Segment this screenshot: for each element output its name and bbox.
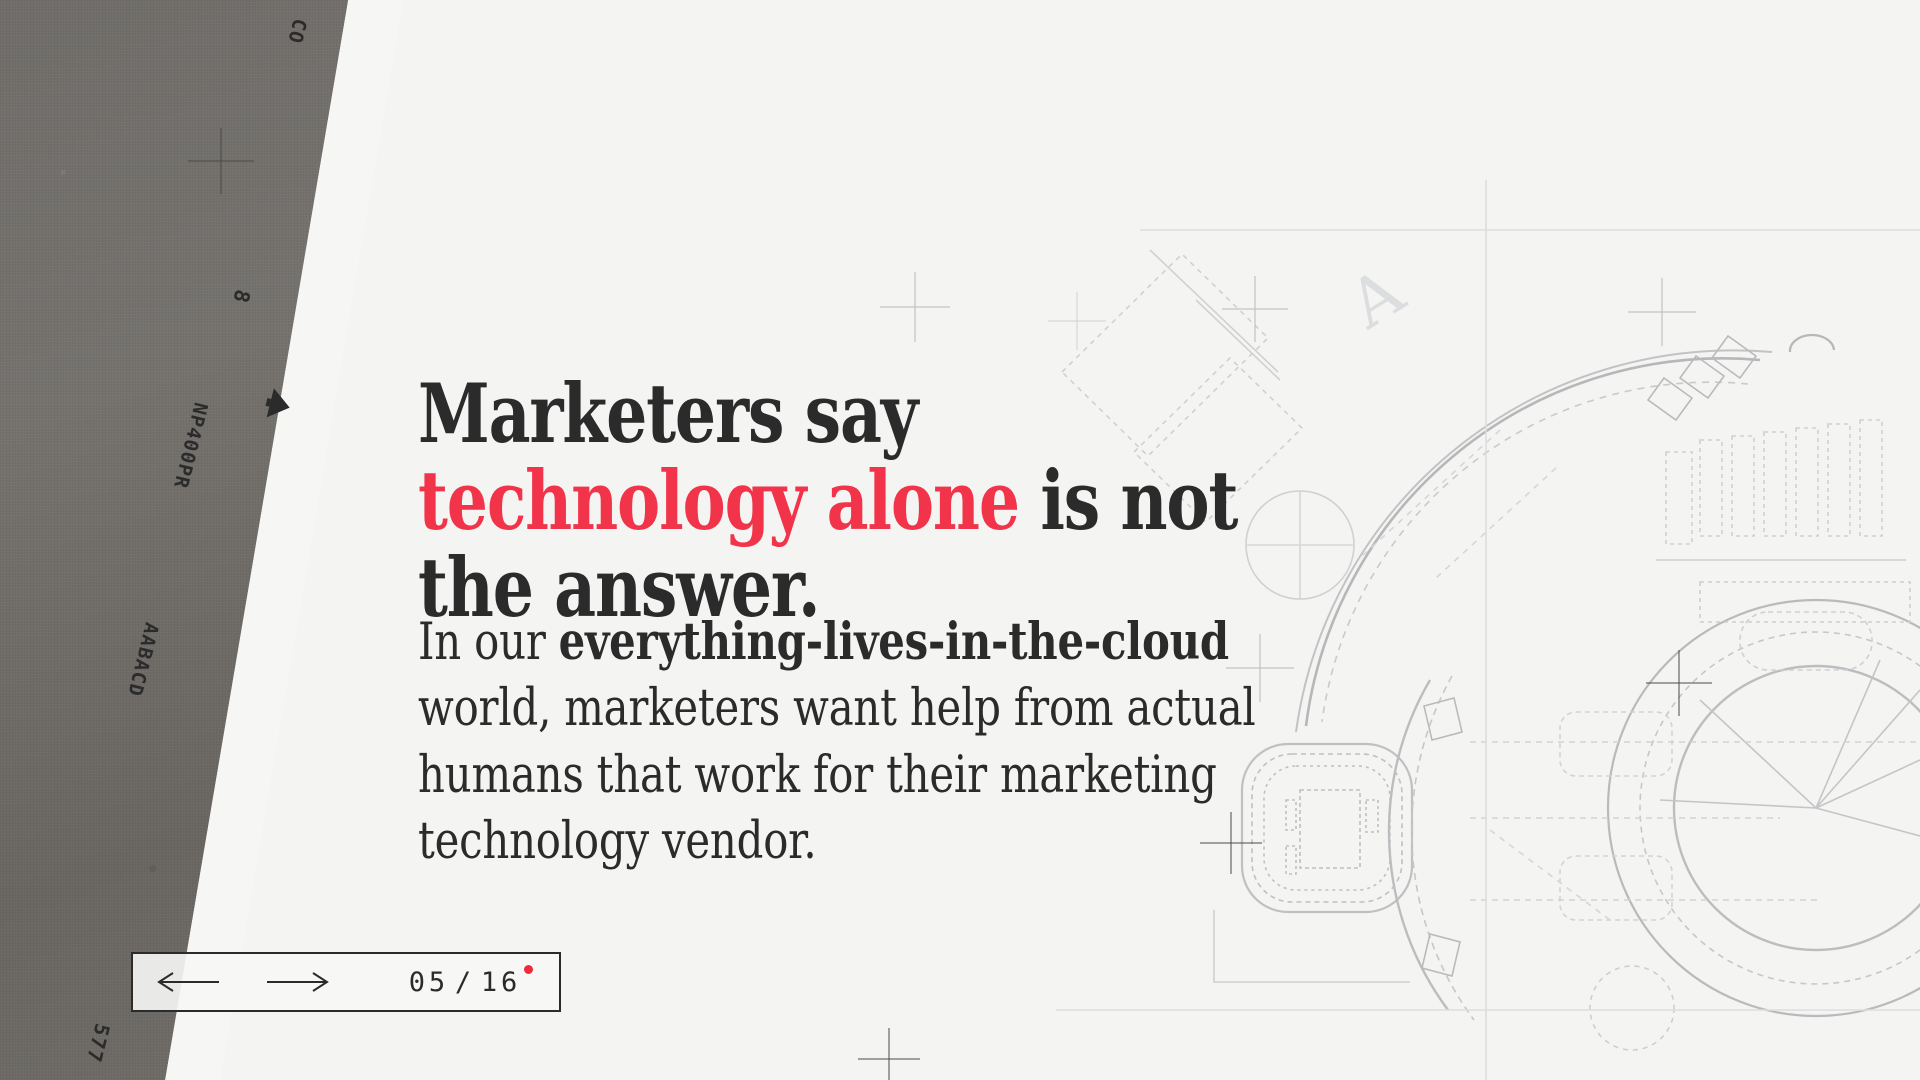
film-edge-markings: CO 8 NP400PR AABACD 577 xyxy=(0,0,430,1080)
slide-canvas: A CO 8 NP400PR AABACD 577 Marketer xyxy=(0,0,1920,1080)
current-slide-number: 05 xyxy=(409,967,449,998)
slide-counter: 05 / 16 xyxy=(409,967,559,998)
prev-slide-button[interactable] xyxy=(157,971,221,993)
body-lead: In our xyxy=(418,613,559,672)
film-mark: 577 xyxy=(82,1021,115,1065)
headline-accent: technology alone xyxy=(418,454,1019,549)
total-slide-number: 16 xyxy=(481,967,521,998)
film-frame-arrow-icon xyxy=(262,385,295,424)
film-mark: CO xyxy=(283,16,310,46)
page-title: Marketers say technology alone is not th… xyxy=(418,372,1314,632)
film-mark: 8 xyxy=(228,287,255,306)
film-mark: NP400PR xyxy=(169,400,212,491)
blueprint-label-a: A xyxy=(1335,252,1418,344)
status-dot-icon xyxy=(524,965,533,974)
film-mark: AABACD xyxy=(123,620,163,699)
body-emphasis: everything-lives-in-the-cloud xyxy=(559,612,1229,672)
next-slide-button[interactable] xyxy=(265,971,329,993)
body-rest: world, marketers want help from actual h… xyxy=(418,679,1256,871)
pagination-bar[interactable]: 05 / 16 xyxy=(131,952,561,1012)
arrow-left-icon xyxy=(157,971,221,993)
body-paragraph: In our everything-lives-in-the-cloud wor… xyxy=(418,609,1287,875)
crosshair-mark xyxy=(1048,292,1106,350)
crosshair-mark xyxy=(1646,650,1712,716)
film-strip: CO 8 NP400PR AABACD 577 xyxy=(0,0,430,1080)
crosshair-mark xyxy=(1222,276,1288,342)
crosshair-mark xyxy=(880,272,950,342)
pagination-arrows xyxy=(133,971,329,993)
arrow-right-icon xyxy=(265,971,329,993)
crosshair-mark xyxy=(1628,278,1696,346)
crosshair-mark xyxy=(858,1028,920,1080)
slide-counter-separator: / xyxy=(455,967,475,998)
headline-part-1: Marketers say xyxy=(418,367,917,462)
